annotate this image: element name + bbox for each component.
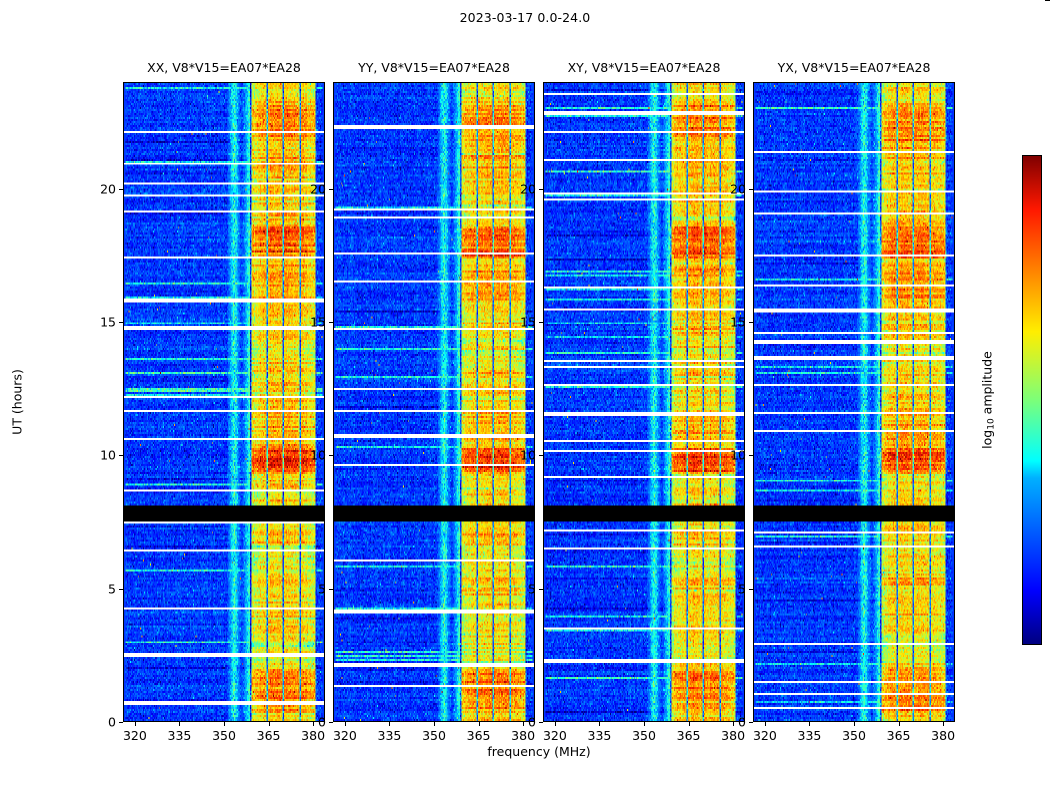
colorbar-label-prefix: log [980, 430, 995, 449]
x-tick-label: 365 [467, 728, 491, 743]
y-tick-mark [119, 589, 123, 590]
spectrum-panel-yy[interactable]: YY, V8*V15=EA07*EA2832033535036538005101… [333, 82, 535, 722]
y-tick-label: 15 [100, 315, 116, 330]
y-tick-label: 5 [318, 581, 326, 596]
y-tick-label: 15 [520, 315, 536, 330]
y-tick-label: 0 [528, 715, 536, 730]
y-tick-mark [329, 189, 333, 190]
spectrum-panel-yx[interactable]: YX, V8*V15=EA07*EA2832033535036538005101… [753, 82, 955, 722]
x-tick-mark [644, 722, 645, 726]
x-tick-label: 350 [632, 728, 656, 743]
x-tick-mark [854, 722, 855, 726]
x-tick-label: 335 [168, 728, 192, 743]
dynamic-spectrum-image-yx [754, 83, 954, 721]
y-tick-mark [119, 722, 123, 723]
x-tick-mark [179, 722, 180, 726]
panel-title-yy: YY, V8*V15=EA07*EA28 [358, 60, 510, 75]
x-tick-label: 365 [677, 728, 701, 743]
x-tick-label: 380 [511, 728, 535, 743]
y-tick-mark [119, 322, 123, 323]
panel-title-xx: XX, V8*V15=EA07*EA28 [147, 60, 301, 75]
colorbar-gradient [1023, 156, 1041, 644]
y-tick-label: 15 [730, 315, 746, 330]
y-tick-mark [329, 322, 333, 323]
panel-title-yx: YX, V8*V15=EA07*EA28 [778, 60, 931, 75]
y-tick-label: 5 [738, 581, 746, 596]
dynamic-spectrum-image-yy [334, 83, 534, 721]
spectrum-panel-xx[interactable]: XX, V8*V15=EA07*EA2832033535036538005101… [123, 82, 325, 722]
x-tick-mark [313, 722, 314, 726]
x-tick-mark [689, 722, 690, 726]
x-tick-label: 320 [753, 728, 777, 743]
y-tick-mark [539, 589, 543, 590]
x-tick-label: 380 [931, 728, 955, 743]
y-tick-label: 10 [730, 448, 746, 463]
x-tick-label: 335 [588, 728, 612, 743]
y-tick-mark [539, 189, 543, 190]
y-tick-mark [119, 455, 123, 456]
x-tick-label: 350 [842, 728, 866, 743]
panel-title-xy: XY, V8*V15=EA07*EA28 [568, 60, 721, 75]
y-tick-label: 5 [528, 581, 536, 596]
x-tick-label: 335 [798, 728, 822, 743]
spectrum-panel-xy[interactable]: XY, V8*V15=EA07*EA2832033535036538005101… [543, 82, 745, 722]
y-tick-label: 20 [100, 181, 116, 196]
x-tick-mark [943, 722, 944, 726]
y-axis-label: UT (hours) [10, 369, 25, 435]
panel-axes-xx [123, 82, 325, 722]
x-tick-mark [599, 722, 600, 726]
x-tick-mark [135, 722, 136, 726]
x-tick-mark [345, 722, 346, 726]
x-tick-label: 320 [123, 728, 147, 743]
y-tick-mark [749, 189, 753, 190]
panel-axes-xy [543, 82, 745, 722]
y-tick-mark [329, 455, 333, 456]
y-tick-mark [539, 722, 543, 723]
x-tick-mark [523, 722, 524, 726]
x-tick-mark [555, 722, 556, 726]
x-tick-label: 365 [887, 728, 911, 743]
x-tick-mark [269, 722, 270, 726]
y-tick-mark [749, 322, 753, 323]
dynamic-spectrum-image-xx [124, 83, 324, 721]
x-axis-label: frequency (MHz) [123, 744, 955, 759]
y-tick-label: 5 [108, 581, 116, 596]
x-tick-label: 335 [378, 728, 402, 743]
y-tick-mark [749, 722, 753, 723]
y-tick-mark [329, 589, 333, 590]
x-tick-label: 320 [333, 728, 357, 743]
x-tick-label: 365 [257, 728, 281, 743]
y-tick-label: 20 [520, 181, 536, 196]
x-tick-label: 350 [212, 728, 236, 743]
x-tick-mark [899, 722, 900, 726]
panel-axes-yy [333, 82, 535, 722]
colorbar[interactable] [1022, 155, 1042, 645]
y-tick-mark [539, 455, 543, 456]
x-tick-mark [479, 722, 480, 726]
colorbar-label-subscript: 10 [986, 418, 996, 429]
figure-suptitle: 2023-03-17 0.0-24.0 [0, 10, 1050, 25]
y-tick-label: 10 [310, 448, 326, 463]
x-tick-mark [733, 722, 734, 726]
y-tick-label: 20 [310, 181, 326, 196]
colorbar-label: log10 amplitude [980, 351, 997, 449]
figure-canvas: 2023-03-17 0.0-24.0 XX, V8*V15=EA07*EA28… [0, 0, 1050, 800]
x-tick-label: 320 [543, 728, 567, 743]
y-tick-label: 15 [310, 315, 326, 330]
y-tick-label: 10 [100, 448, 116, 463]
x-tick-mark [434, 722, 435, 726]
y-tick-label: 0 [318, 715, 326, 730]
x-tick-label: 380 [301, 728, 325, 743]
x-tick-mark [765, 722, 766, 726]
y-tick-mark [749, 455, 753, 456]
y-tick-mark [749, 589, 753, 590]
x-tick-label: 350 [422, 728, 446, 743]
y-tick-label: 20 [730, 181, 746, 196]
y-tick-label: 0 [738, 715, 746, 730]
dynamic-spectrum-image-xy [544, 83, 744, 721]
x-tick-mark [224, 722, 225, 726]
colorbar-label-suffix: amplitude [980, 351, 995, 418]
y-tick-mark [329, 722, 333, 723]
y-tick-mark [119, 189, 123, 190]
x-tick-mark [809, 722, 810, 726]
x-tick-label: 380 [721, 728, 745, 743]
y-tick-label: 0 [108, 715, 116, 730]
y-tick-mark [539, 322, 543, 323]
x-tick-mark [389, 722, 390, 726]
colorbar-tick-mark [1045, 0, 1050, 1]
y-tick-label: 10 [520, 448, 536, 463]
panel-axes-yx [753, 82, 955, 722]
